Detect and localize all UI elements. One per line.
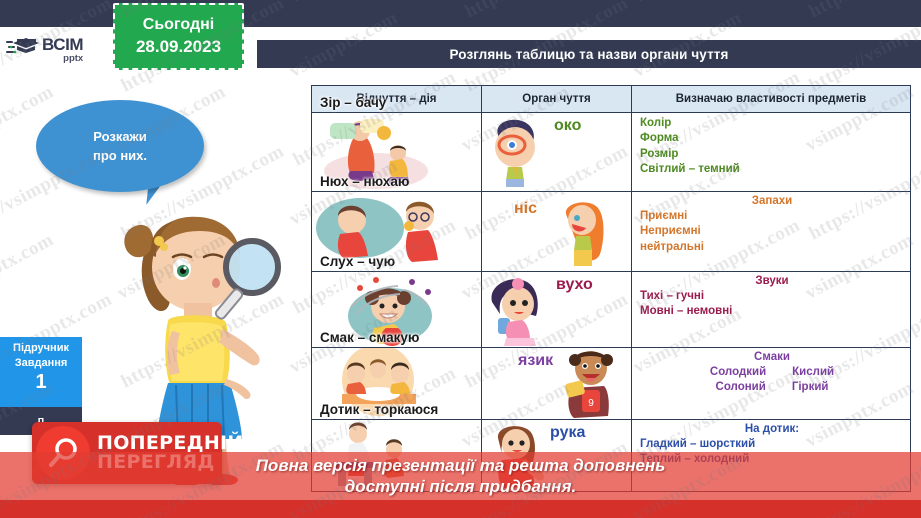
property-line: Солодкий <box>710 365 766 380</box>
property-line: нейтральні <box>640 240 904 255</box>
girl-nose-icon <box>556 198 616 270</box>
today-value: 28.09.2023 <box>136 37 221 57</box>
brand-suffix: pptx <box>42 54 83 64</box>
action-label: Слух – чую <box>320 254 395 269</box>
today-label: Сьогодні <box>143 16 214 34</box>
banner-line2: доступні після придбання. <box>345 476 576 497</box>
senses-table: Відчуття – дія Орган чуття Визначаю влас… <box>311 85 911 492</box>
property-line: Гіркий <box>792 380 829 395</box>
column-header-properties: Визначаю властивості предметів <box>632 86 911 113</box>
organ-label: око <box>554 117 581 135</box>
organ-label: язик <box>518 352 553 370</box>
cell-properties: Звуки Тихі – гучні Мовні – немовні <box>632 272 911 348</box>
today-date-badge: Сьогодні 28.09.2023 <box>113 3 244 70</box>
cell-properties: Колір Форма Розмір Світлий – темний <box>632 113 911 192</box>
property-line: Неприємні <box>640 224 904 239</box>
textbook-task-box[interactable]: Підручник Завдання 1 <box>0 337 82 407</box>
table-header-row: Відчуття – дія Орган чуття Визначаю влас… <box>312 86 911 113</box>
action-label: Смак – смакую <box>320 330 419 345</box>
property-line: Форма <box>640 131 904 146</box>
task-number: 1 <box>35 371 46 394</box>
table-row: Нюх – нюхаю ніс <box>312 192 911 272</box>
property-heading: Запахи <box>640 195 904 207</box>
title-underlay <box>257 68 921 78</box>
svg-text:9: 9 <box>588 398 594 409</box>
girl-ear-icon <box>484 274 550 346</box>
organ-label: рука <box>550 424 585 442</box>
task-label: Завдання <box>15 357 68 369</box>
textbook-label: Підручник <box>13 342 69 354</box>
speech-bubble-line2: про них. <box>93 146 147 166</box>
cell-properties: Смаки Солодкий Кислий Солоний Гіркий <box>632 348 911 420</box>
property-line: Тихі – гучні <box>640 289 904 304</box>
boy-tongue-icon: 9 <box>562 348 620 420</box>
property-heading: Звуки <box>640 275 904 287</box>
property-line: Гладкий – шорсткий <box>640 437 904 452</box>
property-line: Розмір <box>640 147 904 162</box>
cell-organ: 9 язик <box>482 348 632 420</box>
action-label: Дотик – торкаюся <box>320 402 438 417</box>
purchase-banner-strip <box>0 500 921 518</box>
property-heading: На дотик: <box>640 423 904 435</box>
cell-organ: вухо <box>482 272 632 348</box>
property-heading: Смаки <box>640 351 904 363</box>
organ-label: вухо <box>556 276 593 294</box>
property-line: Приємні <box>640 209 904 224</box>
boy-eye-icon <box>484 115 550 189</box>
brand-name: ВСІМ <box>42 36 83 53</box>
property-line: Солоний <box>716 380 766 395</box>
watermark-text: vsimpptx.com <box>0 229 58 305</box>
cell-properties: Запахи Приємні Неприємні нейтральні <box>632 192 911 272</box>
property-line: Колір <box>640 116 904 131</box>
speech-bubble: Розкажи про них. <box>36 100 204 192</box>
page-title: Розглянь таблицю та назви органи чуття <box>450 47 729 62</box>
column-header-organ: Орган чуття <box>482 86 632 113</box>
cell-organ: ніс <box>482 192 632 272</box>
property-line: Кислий <box>792 365 834 380</box>
speech-bubble-line1: Розкажи <box>93 127 147 147</box>
action-label: Нюх – нюхаю <box>320 174 409 189</box>
action-label: Зір – бачу <box>320 95 386 110</box>
cell-organ: око <box>482 113 632 192</box>
brand-logo[interactable]: ВСІМ pptx <box>0 27 112 73</box>
property-line: Світлий – темний <box>640 162 904 177</box>
graduation-cap-icon <box>6 35 40 65</box>
slide-title-bar: Розглянь таблицю та назви органи чуття <box>257 40 921 68</box>
organ-label: ніс <box>514 200 537 218</box>
slide-canvas: Розглянь таблицю та назви органи чуття В… <box>0 0 921 518</box>
purchase-banner: Повна версія презентації та решта доповн… <box>0 452 921 500</box>
banner-line1: Повна версія презентації та решта доповн… <box>256 455 666 476</box>
property-line: Мовні – немовні <box>640 304 904 319</box>
